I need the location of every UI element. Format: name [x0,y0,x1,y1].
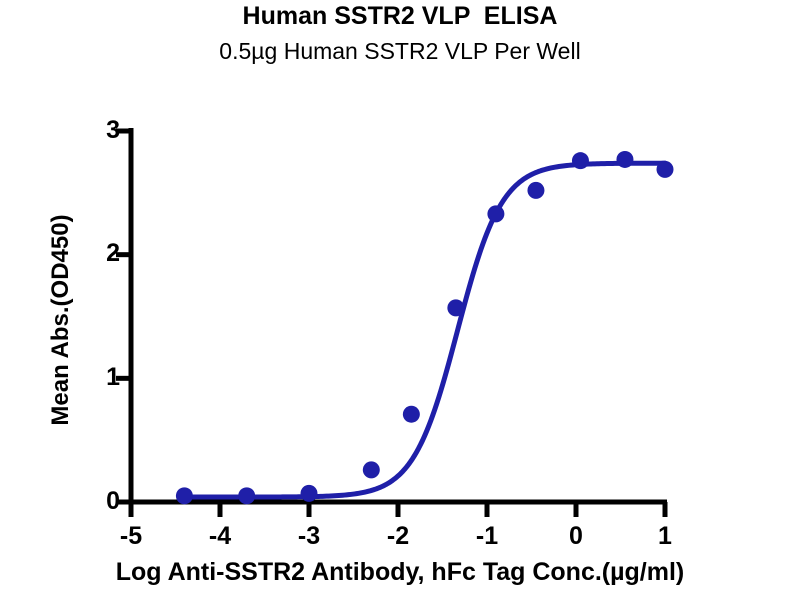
data-point [176,487,193,504]
data-point [301,485,318,502]
data-point [616,151,633,168]
data-point-markers [176,151,674,504]
chart-figure: Human SSTR2 VLP ELISA 0.5µg Human SSTR2 … [0,0,800,600]
data-point [487,205,504,222]
data-point [238,487,255,504]
fit-curve [184,163,665,497]
data-point [657,161,674,178]
data-point [403,406,420,423]
data-point [447,299,464,316]
data-point [363,461,380,478]
data-point [572,152,589,169]
plot-area [0,0,800,600]
data-point [527,182,544,199]
